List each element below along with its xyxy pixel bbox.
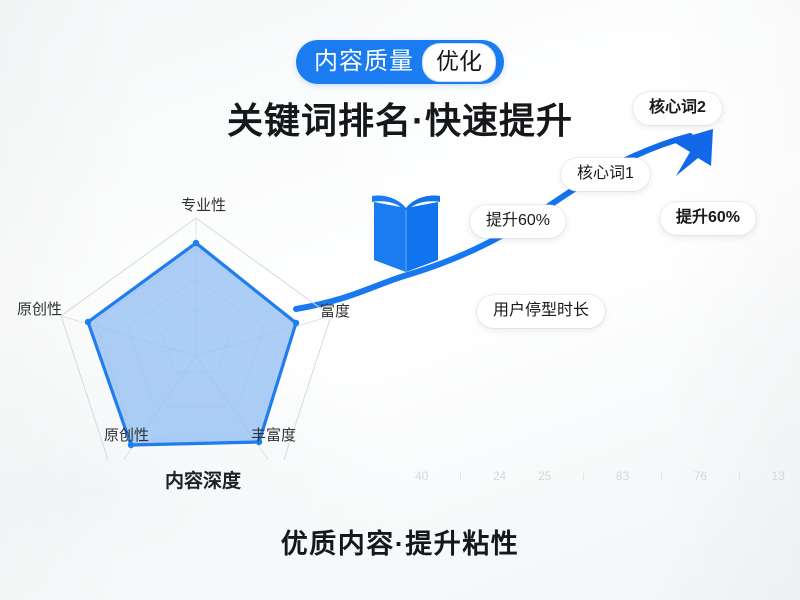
badge-pill-label: 优化 (422, 43, 496, 82)
axis-tick-label: 24 (493, 469, 506, 483)
axis-tick-label: 40 (415, 469, 428, 483)
radar-label-left: 原创性 (17, 298, 62, 319)
radar-label-right: 富度 (320, 300, 350, 321)
radar-chart-svg (36, 200, 356, 460)
badge-main-label: 内容质量 (314, 50, 422, 74)
muted-axis-strip: 40 24 25 83 76 13 (415, 466, 785, 486)
radar-series (85, 240, 299, 448)
footer-tagline: 优质内容·提升粘性 (0, 522, 800, 561)
radar-chart: 专业性 富度 丰富度 原创性 原创性 (36, 200, 356, 460)
axis-tick-label: 76 (694, 469, 707, 483)
callout-uplift-right[interactable]: 提升60% (660, 202, 756, 235)
axis-tick-label: 83 (616, 469, 629, 483)
axis-tick-label: 25 (538, 469, 551, 483)
axis-tick-mark (661, 473, 662, 480)
callout-keyword-2[interactable]: 核心词2 (633, 92, 722, 125)
axis-tick-label: 13 (772, 469, 785, 483)
axis-tick-mark (460, 473, 461, 480)
callout-uplift-left[interactable]: 提升60% (470, 205, 566, 238)
open-book-icon (368, 190, 444, 276)
callout-keyword-1[interactable]: 核心词1 (561, 158, 650, 191)
radar-label-bottom-left: 原创性 (104, 424, 149, 445)
content-quality-badge[interactable]: 内容质量 优化 (296, 40, 504, 84)
content-depth-label: 内容深度 (165, 466, 241, 493)
slide-canvas: 内容质量 优化 关键词排名·快速提升 (0, 0, 800, 600)
axis-tick-mark (739, 473, 740, 480)
radar-label-bottom-right: 丰富度 (251, 424, 296, 445)
callout-dwell-time[interactable]: 用户停型时长 (477, 295, 605, 328)
axis-tick-mark (583, 473, 584, 480)
radar-label-top: 专业性 (181, 194, 226, 215)
